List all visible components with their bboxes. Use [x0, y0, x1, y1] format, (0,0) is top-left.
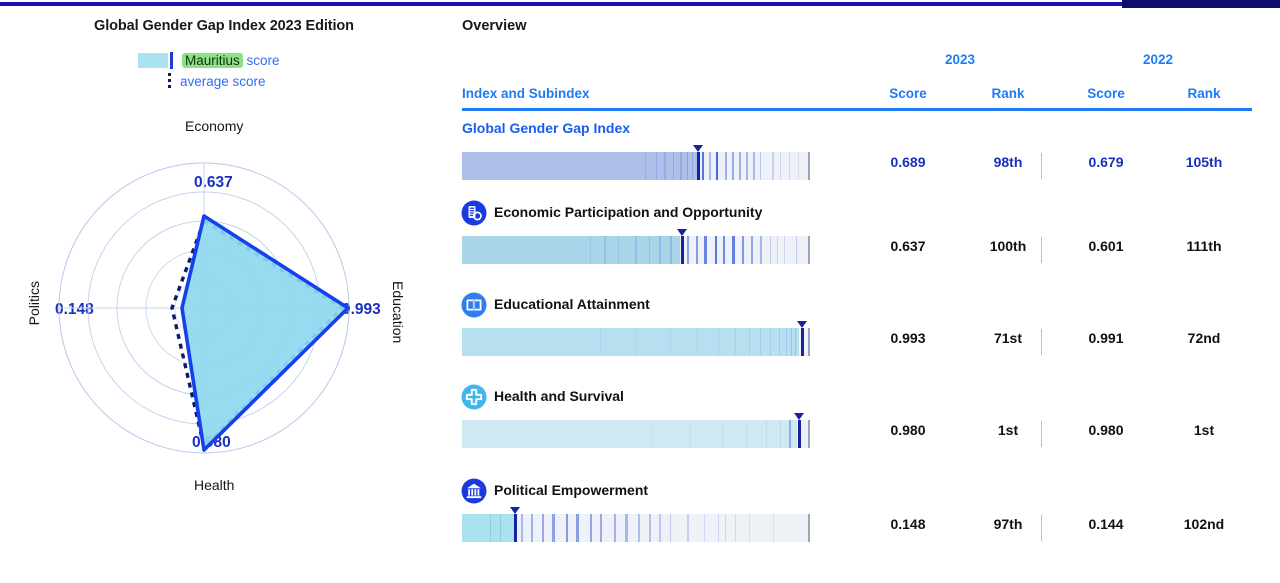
politics-icon [461, 478, 487, 504]
cell-rank-2022: 72nd [1156, 330, 1252, 346]
legend-item-country: Mauritius score [0, 50, 448, 71]
score-marker-line [798, 420, 801, 448]
radar-legend: Mauritius score average score [0, 50, 448, 92]
cell-rank-2023: 98th [960, 154, 1056, 170]
cell-score-2022: 0.679 [1058, 154, 1154, 170]
country-score-suffix: score [243, 53, 280, 68]
cell-score-2023: 0.148 [860, 516, 956, 532]
distribution-ticks [462, 236, 808, 264]
score-marker-arrow-icon [794, 413, 804, 420]
distribution-ticks [462, 328, 808, 356]
economy-icon [461, 200, 487, 226]
score-marker-line [681, 236, 684, 264]
radar-panel: Global Gender Gap Index 2023 Edition Mau… [0, 8, 448, 583]
legend-country-text: Mauritius score [182, 53, 280, 68]
distribution-chart [462, 508, 810, 542]
legend-average-label: average score [180, 74, 266, 89]
cell-score-2023: 0.637 [860, 238, 956, 254]
score-marker-line [514, 514, 517, 542]
row-label: Health and Survival [494, 388, 624, 404]
column-header-score-2022: Score [1058, 86, 1154, 101]
distribution-chart [462, 230, 810, 264]
cell-rank-2022: 111th [1156, 238, 1252, 254]
cell-rank-2023: 71st [960, 330, 1056, 346]
column-header-rank-2022: Rank [1156, 86, 1252, 101]
score-marker-arrow-icon [510, 507, 520, 514]
radar-chart [44, 148, 364, 468]
top-accent-rule-dark [1122, 0, 1280, 8]
distribution-track [462, 328, 810, 356]
distribution-ticks [462, 420, 808, 448]
score-marker-arrow-icon [677, 229, 687, 236]
score-marker-line [801, 328, 804, 356]
cell-score-2023: 0.689 [860, 154, 956, 170]
distribution-track [462, 420, 810, 448]
distribution-chart [462, 146, 810, 180]
legend-item-average: average score [0, 71, 448, 92]
distribution-track [462, 236, 810, 264]
radar-title: Global Gender Gap Index 2023 Edition [0, 18, 448, 34]
year-header-2023: 2023 [910, 52, 1010, 67]
overview-panel: Overview 2023 2022 Index and Subindex Sc… [448, 8, 1280, 583]
radar-axis-label-health: Health [194, 477, 234, 493]
score-marker-line [697, 152, 700, 180]
page-root: Global Gender Gap Index 2023 Edition Mau… [0, 0, 1280, 583]
header-underline [462, 108, 1252, 111]
year-header-2022: 2022 [1108, 52, 1208, 67]
cell-score-2022: 0.144 [1058, 516, 1154, 532]
score-marker-arrow-icon [693, 145, 703, 152]
cell-rank-2022: 102nd [1156, 516, 1252, 532]
radar-axis-label-politics: Politics [26, 281, 42, 325]
row-label: Economic Participation and Opportunity [494, 204, 762, 220]
score-marker-arrow-icon [797, 321, 807, 328]
cell-score-2022: 0.991 [1058, 330, 1154, 346]
distribution-chart [462, 322, 810, 356]
distribution-ticks [462, 152, 808, 180]
top-accent-rule [0, 2, 1280, 6]
column-header-score-2023: Score [860, 86, 956, 101]
cell-rank-2023: 1st [960, 422, 1056, 438]
column-header-rank-2023: Rank [960, 86, 1056, 101]
cell-score-2022: 0.980 [1058, 422, 1154, 438]
country-swatch-icon [138, 53, 168, 68]
dotted-line-icon [168, 73, 171, 90]
cell-rank-2022: 1st [1156, 422, 1252, 438]
cell-score-2022: 0.601 [1058, 238, 1154, 254]
row-label: Political Empowerment [494, 482, 648, 498]
country-line-icon [170, 52, 173, 69]
radar-axis-label-economy: Economy [185, 118, 243, 134]
radar-country-polygon [182, 216, 348, 450]
education-icon [461, 292, 487, 318]
row-label: Global Gender Gap Index [462, 120, 630, 136]
cell-rank-2023: 97th [960, 516, 1056, 532]
distribution-track [462, 152, 810, 180]
overview-title: Overview [462, 18, 527, 34]
radar-axis-label-education: Education [390, 281, 406, 343]
health-icon [461, 384, 487, 410]
cell-rank-2022: 105th [1156, 154, 1252, 170]
country-name-highlight: Mauritius [182, 53, 243, 68]
cell-rank-2023: 100th [960, 238, 1056, 254]
cell-score-2023: 0.993 [860, 330, 956, 346]
distribution-chart [462, 414, 810, 448]
row-label: Educational Attainment [494, 296, 650, 312]
column-header-index: Index and Subindex [462, 86, 590, 101]
cell-score-2023: 0.980 [860, 422, 956, 438]
